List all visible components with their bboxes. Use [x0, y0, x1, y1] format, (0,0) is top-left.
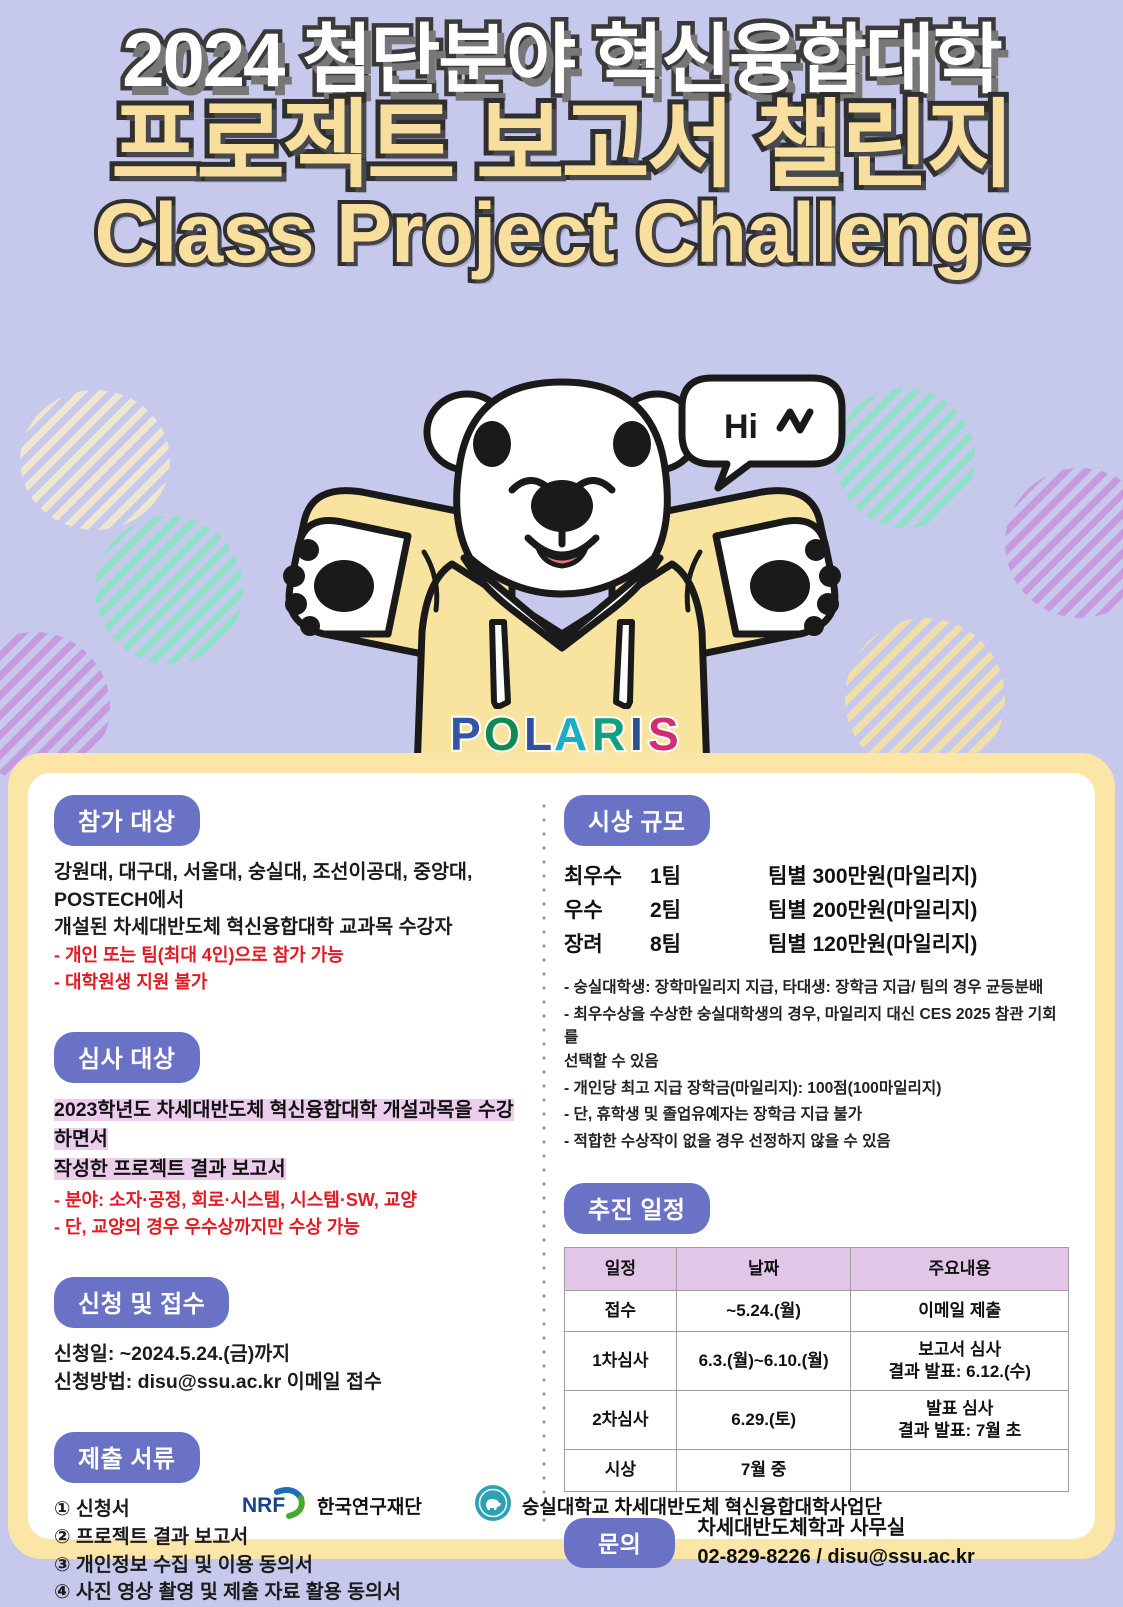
schedule-detail: 발표 심사 결과 발표: 7월 초: [851, 1391, 1069, 1450]
schedule-detail-line-1: 이메일 제출: [855, 1300, 1064, 1322]
award-rank: 최우수: [564, 860, 650, 894]
award-prize: 팀별 300만원(마일리지): [768, 860, 1069, 894]
schedule-col-stage: 일정: [565, 1247, 677, 1290]
heading-review-target: 심사 대상: [54, 1032, 200, 1083]
document-item-2: ② 프로젝트 결과 보고서: [54, 1524, 526, 1552]
application-line-1: 신청일: ~2024.5.24.(금)까지: [54, 1341, 526, 1369]
nrf-logo-icon: NRF: [241, 1486, 307, 1525]
svg-text:NRF: NRF: [242, 1494, 285, 1517]
schedule-stage: 1차심사: [565, 1332, 677, 1391]
title-line-3: Class Project Challenge: [0, 189, 1123, 277]
content-card-border: 참가 대상 강원대, 대구대, 서울대, 숭실대, 조선이공대, 중앙대, PO…: [8, 753, 1115, 1559]
award-teams: 1팀: [650, 860, 768, 894]
schedule-stage: 2차심사: [565, 1391, 677, 1450]
award-row: 최우수 1팀 팀별 300만원(마일리지): [564, 860, 1069, 894]
award-teams: 8팀: [650, 928, 768, 962]
schedule-table: 일정 날짜 주요내용 접수 ~5.24.(월) 이메일 제출 1차심사: [564, 1247, 1069, 1492]
awards-table: 최우수 1팀 팀별 300만원(마일리지) 우수 2팀 팀별 200만원(마일리…: [564, 860, 1069, 962]
heading-application: 신청 및 접수: [54, 1277, 229, 1328]
left-column: 참가 대상 강원대, 대구대, 서울대, 숭실대, 조선이공대, 중앙대, PO…: [54, 795, 536, 1529]
table-row: 2차심사 6.29.(토) 발표 심사 결과 발표: 7월 초: [565, 1391, 1069, 1450]
schedule-header-row: 일정 날짜 주요내용: [565, 1247, 1069, 1290]
ssu-logo-label: 숭실대학교 차세대반도체 혁신융합대학사업단: [522, 1492, 882, 1519]
deco-circle-cream-left: [20, 390, 170, 530]
schedule-detail-line-1: 보고서 심사: [855, 1339, 1064, 1361]
schedule-date: 6.3.(월)~6.10.(월): [676, 1332, 851, 1391]
title-line-2: 프로젝트 보고서 챌린지: [0, 96, 1123, 196]
award-teams: 2팀: [650, 894, 768, 928]
logo-ssu: 숭실대학교 차세대반도체 혁신융합대학사업단: [474, 1484, 882, 1527]
title-line-1: 2024 첨단분야 혁신융합대학: [0, 22, 1123, 100]
review-highlight-line-1: 2023학년도 차세대반도체 혁신융합대학 개설과목을 수강하면서: [54, 1099, 514, 1150]
schedule-detail-line-1: 발표 심사: [855, 1398, 1064, 1420]
document-item-3: ③ 개인정보 수집 및 이용 동의서: [54, 1552, 526, 1580]
award-rank: 우수: [564, 894, 650, 928]
table-row: 접수 ~5.24.(월) 이메일 제출: [565, 1290, 1069, 1331]
document-item-4: ④ 사진 영상 촬영 및 제출 자료 활용 동의서: [54, 1579, 526, 1607]
table-row: 1차심사 6.3.(월)~6.10.(월) 보고서 심사 결과 발표: 6.12…: [565, 1332, 1069, 1391]
review-note-1: - 분야: 소자·공정, 회로·시스템, 시스템·SW, 교양: [54, 1187, 526, 1214]
column-divider: [542, 799, 546, 1525]
application-line-2: 신청방법: disu@ssu.ac.kr 이메일 접수: [54, 1369, 526, 1397]
participation-target-body: 강원대, 대구대, 서울대, 숭실대, 조선이공대, 중앙대, POSTECH에…: [54, 859, 526, 942]
participation-line-1: 강원대, 대구대, 서울대, 숭실대, 조선이공대, 중앙대, POSTECH에…: [54, 859, 526, 914]
award-note-2-cont: 선택할 수 있음: [564, 1050, 1069, 1074]
participation-line-2: 개설된 차세대반도체 혁신융합대학 교과목 수강자: [54, 914, 526, 942]
poster-title-block: 2024 첨단분야 혁신융합대학 프로젝트 보고서 챌린지 Class Proj…: [0, 0, 1123, 278]
schedule-date: ~5.24.(월): [676, 1290, 851, 1331]
award-note-3: - 개인당 최고 지급 장학금(마일리지): 100점(100마일리지): [564, 1077, 1069, 1101]
schedule-date: 6.29.(토): [676, 1391, 851, 1450]
participation-note-1: - 개인 또는 팀(최대 4인)으로 참가 가능: [54, 942, 526, 969]
right-column: 시상 규모 최우수 1팀 팀별 300만원(마일리지) 우수 2팀 팀별 200…: [564, 795, 1069, 1529]
award-note-4: - 단, 휴학생 및 졸업유예자는 장학금 지급 불가: [564, 1103, 1069, 1127]
heading-awards: 시상 규모: [564, 795, 710, 846]
schedule-col-detail: 주요내용: [851, 1247, 1069, 1290]
award-rank: 장려: [564, 928, 650, 962]
award-row: 장려 8팀 팀별 120만원(마일리지): [564, 928, 1069, 962]
logo-nrf: NRF 한국연구재단: [241, 1486, 422, 1525]
award-note-5: - 적합한 수상작이 없을 경우 선정하지 않을 수 있음: [564, 1130, 1069, 1154]
speech-bubble-text: Hi: [724, 408, 758, 446]
deco-circle-purple-right: [1005, 468, 1123, 618]
contact-phone-email: 02-829-8226 / disu@ssu.ac.kr: [697, 1543, 974, 1572]
application-body: 신청일: ~2024.5.24.(금)까지 신청방법: disu@ssu.ac.…: [54, 1341, 526, 1396]
award-prize: 팀별 200만원(마일리지): [768, 894, 1069, 928]
participation-note-2: - 대학원생 지원 불가: [54, 969, 526, 996]
schedule-detail: 보고서 심사 결과 발표: 6.12.(수): [851, 1332, 1069, 1391]
review-note-2: - 단, 교양의 경우 우수상까지만 수상 가능: [54, 1214, 526, 1241]
review-highlight-line-2: 작성한 프로젝트 결과 보고서: [54, 1158, 286, 1180]
heading-participation-target: 참가 대상: [54, 795, 200, 846]
nrf-logo-label: 한국연구재단: [317, 1492, 422, 1519]
schedule-col-date: 날짜: [676, 1247, 851, 1290]
heading-schedule: 추진 일정: [564, 1183, 710, 1234]
polaris-bear-mascot: Hi P O L A R I S: [212, 372, 912, 777]
schedule-stage: 접수: [565, 1290, 677, 1331]
footer-logos: NRF 한국연구재단 숭실대학교 차세대반도체 혁신융합대학사업단: [0, 1484, 1123, 1527]
award-note-1: - 숭실대학생: 장학마일리지 지급, 타대생: 장학금 지급/ 팀의 경우 균…: [564, 976, 1069, 1000]
schedule-detail-line-2: 결과 발표: 6.12.(수): [855, 1361, 1064, 1383]
award-note-2: - 최우수상을 수상한 숭실대학생의 경우, 마일리지 대신 CES 2025 …: [564, 1003, 1069, 1050]
heading-documents: 제출 서류: [54, 1432, 200, 1483]
review-target-highlight: 2023학년도 차세대반도체 혁신융합대학 개설과목을 수강하면서 작성한 프로…: [54, 1096, 526, 1184]
award-prize: 팀별 120만원(마일리지): [768, 928, 1069, 962]
award-row: 우수 2팀 팀별 200만원(마일리지): [564, 894, 1069, 928]
ssu-emblem-icon: [474, 1484, 512, 1527]
schedule-detail: 이메일 제출: [851, 1290, 1069, 1331]
content-card: 참가 대상 강원대, 대구대, 서울대, 숭실대, 조선이공대, 중앙대, PO…: [28, 773, 1095, 1539]
schedule-detail-line-2: 결과 발표: 7월 초: [855, 1420, 1064, 1442]
awards-notes: - 숭실대학생: 장학마일리지 지급, 타대생: 장학금 지급/ 팀의 경우 균…: [564, 976, 1069, 1154]
